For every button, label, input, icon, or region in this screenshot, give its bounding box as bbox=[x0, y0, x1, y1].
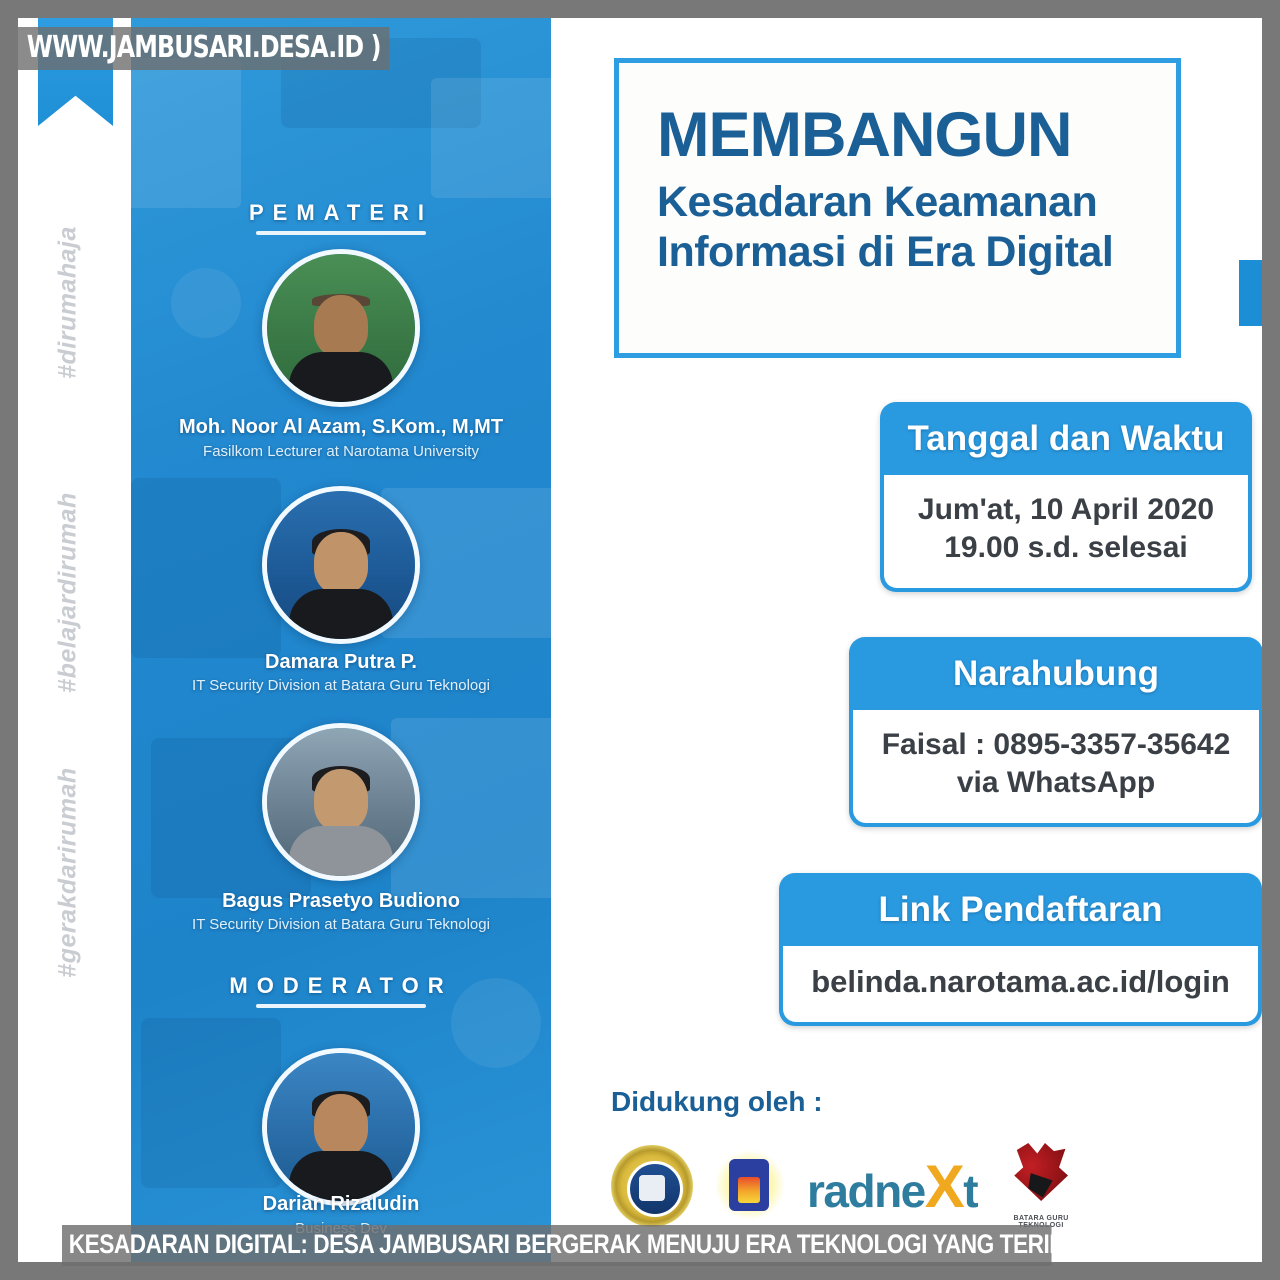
bottom-caption: KESADARAN DIGITAL: DESA JAMBUSARI BERGER… bbox=[62, 1225, 1052, 1266]
hashtag-rail: #dirumahaja #belajardirumah #gerakdariru… bbox=[18, 18, 118, 1262]
section-rule-pemateri bbox=[256, 231, 426, 235]
section-label-pemateri: PEMATERI bbox=[131, 200, 551, 226]
registration-link[interactable]: belinda.narotama.ac.id/login bbox=[793, 962, 1248, 1002]
speaker-avatar-3 bbox=[262, 723, 420, 881]
hashtag-dirumahaja: #dirumahaja bbox=[54, 226, 83, 379]
sponsor-gear-flame bbox=[711, 1143, 789, 1229]
poster-frame: #dirumahaja #belajardirumah #gerakdariru… bbox=[0, 0, 1280, 1280]
speaker-name-3: Bagus Prasetyo Budiono bbox=[131, 890, 551, 913]
poster-canvas: #dirumahaja #belajardirumah #gerakdariru… bbox=[18, 18, 1262, 1262]
moderator-name-1: Darian Rizaludin bbox=[131, 1193, 551, 1216]
card-link-pendaftaran[interactable]: Link Pendaftaran belinda.narotama.ac.id/… bbox=[779, 873, 1262, 1026]
card-contact-channel: via WhatsApp bbox=[863, 764, 1249, 802]
title-line-2: Kesadaran Keamanan bbox=[657, 177, 1146, 228]
card-contact-phone: Faisal : 0895-3357-35642 bbox=[863, 726, 1249, 764]
sponsor-batara-guru: BATARA GURU TEKNOLOGI bbox=[995, 1143, 1087, 1229]
radnext-text: radne bbox=[807, 1165, 925, 1217]
card-datetime-body: Jum'at, 10 April 2020 19.00 s.d. selesai bbox=[884, 475, 1248, 588]
site-watermark: WWW.JAMBUSARI.DESA.ID ) bbox=[18, 27, 389, 70]
radnext-suffix: t bbox=[963, 1165, 977, 1217]
speaker-avatar-2 bbox=[262, 486, 420, 644]
batara-guru-icon: BATARA GURU TEKNOLOGI bbox=[995, 1143, 1087, 1229]
card-link-body: belinda.narotama.ac.id/login bbox=[783, 946, 1258, 1022]
university-seal-icon bbox=[611, 1145, 693, 1227]
card-datetime-heading: Tanggal dan Waktu bbox=[884, 406, 1248, 475]
gear-flame-icon bbox=[711, 1145, 789, 1227]
speaker-role-3: IT Security Division at Batara Guru Tekn… bbox=[131, 916, 551, 933]
speaker-role-1: Fasilkom Lecturer at Narotama University bbox=[131, 443, 551, 460]
title-box: MEMBANGUN Kesadaran Keamanan Informasi d… bbox=[614, 58, 1181, 358]
speaker-avatar-1 bbox=[262, 249, 420, 407]
moderator-avatar-1 bbox=[262, 1048, 420, 1206]
card-datetime-time: 19.00 s.d. selesai bbox=[894, 529, 1238, 567]
content-panel: MEMBANGUN Kesadaran Keamanan Informasi d… bbox=[551, 18, 1262, 1262]
card-datetime-date: Jum'at, 10 April 2020 bbox=[894, 491, 1238, 529]
speaker-name-1: Moh. Noor Al Azam, S.Kom., M,MT bbox=[131, 416, 551, 439]
speaker-role-2: IT Security Division at Batara Guru Tekn… bbox=[131, 677, 551, 694]
section-label-moderator: MODERATOR bbox=[131, 973, 551, 999]
sponsor-logo-row: radneXt BATARA GURU TEKNOLOGI bbox=[611, 1136, 1251, 1236]
title-line-1: MEMBANGUN bbox=[657, 105, 1146, 167]
speaker-name-2: Damara Putra P. bbox=[131, 651, 551, 674]
card-contact-body: Faisal : 0895-3357-35642 via WhatsApp bbox=[853, 710, 1259, 823]
speakers-column: PEMATERI Moh. Noor Al Azam, S.Kom., M,MT… bbox=[131, 18, 551, 1262]
radnext-wordmark-icon: radneXt bbox=[807, 1152, 977, 1221]
hashtag-gerakdarirumah: #gerakdarirumah bbox=[54, 767, 83, 977]
support-label: Didukung oleh : bbox=[611, 1086, 823, 1118]
card-narahubung: Narahubung Faisal : 0895-3357-35642 via … bbox=[849, 637, 1262, 827]
card-link-heading: Link Pendaftaran bbox=[783, 877, 1258, 946]
sponsor-university-seal bbox=[611, 1143, 693, 1229]
card-contact-heading: Narahubung bbox=[853, 641, 1259, 710]
side-accent-tab bbox=[1239, 260, 1262, 326]
sponsor-radnext: radneXt bbox=[807, 1143, 977, 1229]
section-rule-moderator bbox=[256, 1004, 426, 1008]
radnext-x: X bbox=[925, 1153, 964, 1220]
hashtag-belajardirumah: #belajardirumah bbox=[54, 492, 83, 693]
title-line-3: Informasi di Era Digital bbox=[657, 227, 1146, 278]
card-tanggal-dan-waktu: Tanggal dan Waktu Jum'at, 10 April 2020 … bbox=[880, 402, 1252, 592]
